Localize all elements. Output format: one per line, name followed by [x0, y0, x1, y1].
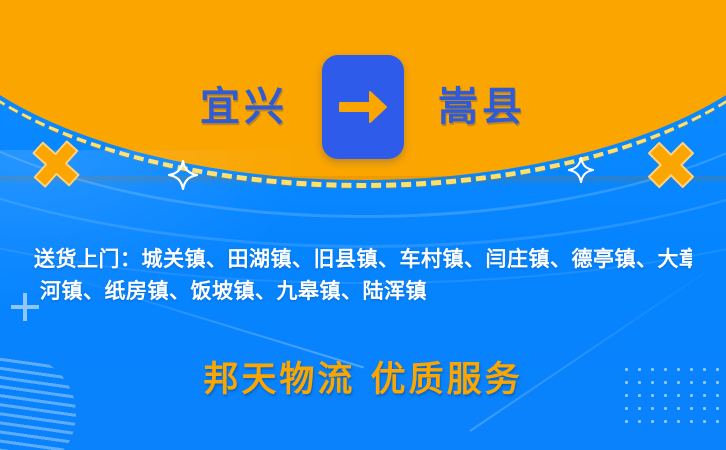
route-arrow-badge: [322, 55, 404, 159]
delivery-towns-block: 送货上门：城关镇、田湖镇、旧县镇、车村镇、闫庄镇、德亭镇、大章镇、白 河镇、纸房…: [0, 243, 726, 307]
company-slogan: 邦天物流 优质服务: [0, 361, 726, 400]
origin-city: 宜兴: [200, 87, 288, 127]
arrow-right-icon: [336, 86, 390, 128]
route-header: 宜兴 嵩县: [0, 52, 726, 162]
delivery-line-1: 送货上门：城关镇、田湖镇、旧县镇、车村镇、闫庄镇、德亭镇、大章镇、白: [34, 243, 692, 275]
delivery-line-2: 河镇、纸房镇、饭坡镇、九皋镇、陆浑镇: [34, 275, 692, 307]
destination-city: 嵩县: [438, 87, 526, 127]
logistics-route-banner: 宜兴 嵩县 送货上门：城关镇、田湖镇、旧县镇、车村镇、闫庄镇、德亭镇、大章镇、白…: [0, 0, 726, 450]
